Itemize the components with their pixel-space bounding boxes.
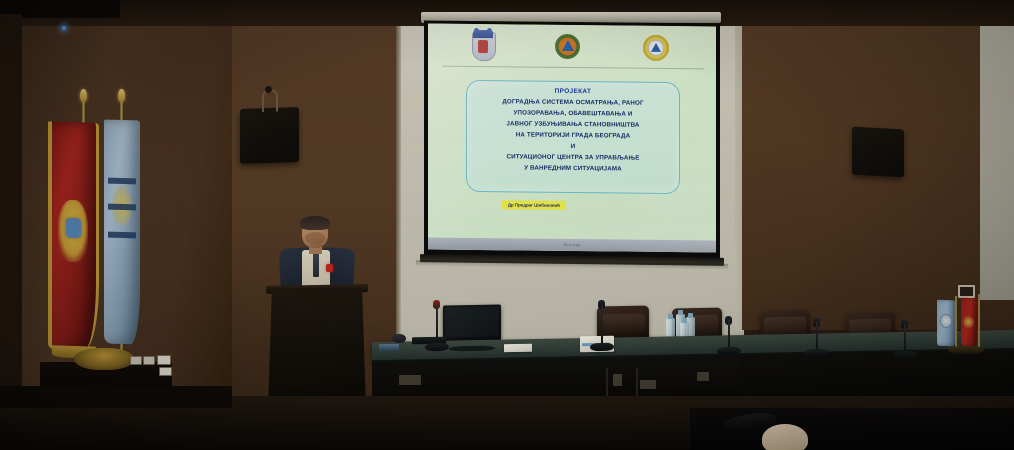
face-shadow [305,232,325,244]
table-panel-plate [613,374,622,386]
slide-body-line: У ВАНРЕДНИМ СИТУАЦИЈАМА [469,162,677,175]
triangle-icon [562,40,574,51]
eagle-shield-icon [66,218,81,239]
desk-flag-blue [937,300,955,347]
slide-emblem-row [428,27,716,68]
slide-presenter-name: Др Предраг Шибиновић [502,200,566,210]
microphone-stem [601,306,603,344]
flag-base [74,348,134,370]
desk-flag-pole [955,296,957,350]
presentation-slide: ПРОЈЕКАТ ДОГРАДЊА СИСТЕМА ОСМАТРАЊА, РАН… [428,23,716,252]
slide-title: ПРОЈЕКАТ [467,87,679,96]
flag-band [108,178,136,185]
desk-flag-pole [978,294,980,350]
tie [313,251,319,277]
computer-mouse [392,334,406,343]
flag-finial-icon [118,89,125,102]
microphone-base [805,349,829,357]
wall-outlet-plate [130,356,142,365]
microphone-stem [728,320,730,348]
microphone-stem [436,306,438,344]
montenegro-flag [48,121,99,351]
hair [300,216,330,230]
podium [268,288,366,408]
city-blue-flag [104,120,140,345]
flag-band [108,232,136,239]
wall-outlet-plate [157,355,171,365]
far-right-wall [980,0,1014,300]
table-panel-plate [697,372,709,381]
microphone-stem [904,324,906,352]
wall-speaker-right [852,127,904,178]
serbia-coat-of-arms-emblem [468,30,498,64]
wall-outlet-plate [143,356,155,365]
projection-screen: ПРОЈЕКАТ ДОГРАДЊА СИСТЕМА ОСМАТРАЊА, РАН… [428,23,716,252]
slide-content-box: ПРОЈЕКАТ ДОГРАДЊА СИСТЕМА ОСМАТРАЊА, РАН… [466,80,680,194]
microphone-base [425,343,449,351]
table-panel-plate [640,380,656,389]
papers [504,344,532,352]
desk-flag-red [961,298,977,347]
desk-flag-stand [948,346,984,354]
microphone-base [893,351,917,359]
status-led-icon [62,26,66,30]
table-panel-plate [399,375,421,385]
stage-front [0,386,232,408]
eagle-emblem-icon [58,199,88,262]
microphone-base [590,343,614,351]
desk-monitor [443,304,501,341]
desk-flag-emblem-icon [940,314,952,328]
left-corner-shadow [0,14,22,400]
civil-defence-triangle-emblem [640,32,670,66]
wall-outlet-plate [159,367,172,376]
flag-band [108,204,136,211]
civil-protection-emblem [552,31,582,65]
wall-speaker-left [240,107,299,164]
name-plate [379,344,399,351]
slide-body: ДОГРАДЊА СИСТЕМА ОСМАТРАЊА, РАНОГ УПОЗОР… [469,96,677,175]
monitor-screen [445,307,499,338]
microphone-base [717,347,741,355]
cross-icon [478,40,488,53]
conference-hall-photo: ПРОЈЕКАТ ДОГРАДЊА СИСТЕМА ОСМАТРАЊА, РАН… [0,0,1014,450]
wall-outlet-plate [958,285,975,298]
flag-finial-icon [80,89,87,102]
crown-icon [473,30,493,38]
triangle-icon [651,43,661,52]
microphone-stem [816,322,818,350]
speaker-bracket-icon [262,90,278,113]
lapel-pin-icon [326,264,333,272]
foreground-person-head [762,424,808,450]
